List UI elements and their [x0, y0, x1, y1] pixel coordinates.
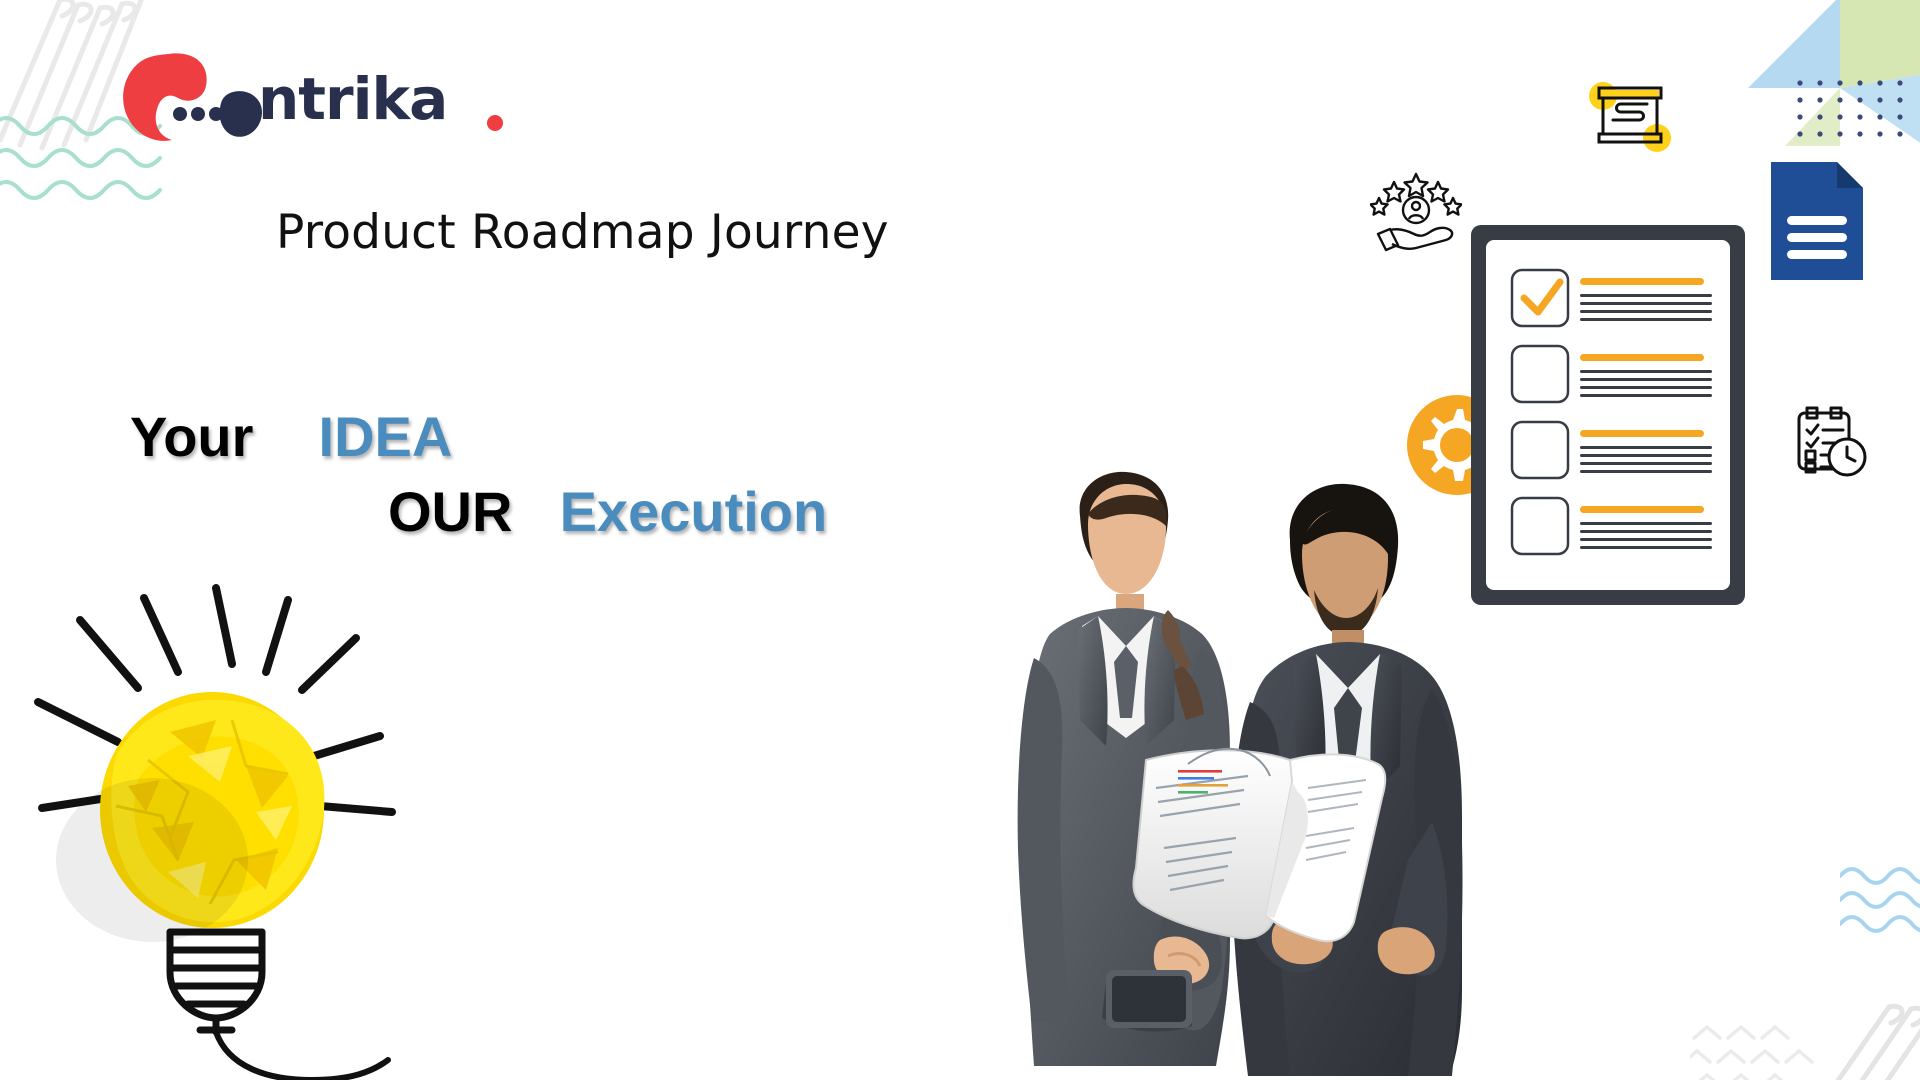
logo-wordmark: ntrika: [258, 70, 447, 128]
chevron-grid-bottom: [1690, 1020, 1820, 1080]
brand-logo[interactable]: ntrika: [110, 48, 430, 144]
slide-canvas: ntrika Product Roadmap Journey Your IDEA…: [0, 0, 1920, 1080]
headline-execution: Execution: [560, 480, 828, 543]
page-title: Product Roadmap Journey: [276, 205, 1176, 260]
headline-line-2: OUR Execution: [388, 483, 827, 542]
lightbulb-idea-icon: [20, 560, 440, 1080]
task-schedule-icon: [1785, 405, 1869, 489]
scribble-bottom-right: [1835, 995, 1920, 1080]
customer-rating-icon: [1370, 172, 1462, 252]
dot-grid-top-right: [1795, 78, 1905, 148]
printed-report: [1134, 749, 1386, 941]
headline-idea: IDEA: [319, 405, 453, 468]
wave-lines-bottom-right: [1840, 862, 1920, 934]
logo-accent-dot-icon: [482, 110, 508, 136]
headline-line-1: Your IDEA: [130, 408, 452, 467]
headline-your: Your: [130, 405, 253, 468]
whiteboard-icon: [1583, 76, 1679, 160]
headline-our: OUR: [388, 480, 512, 543]
checklist-board[interactable]: [1468, 222, 1748, 608]
document-file-icon: [1765, 160, 1869, 284]
triangle-cluster-top-right: [1745, 0, 1920, 146]
